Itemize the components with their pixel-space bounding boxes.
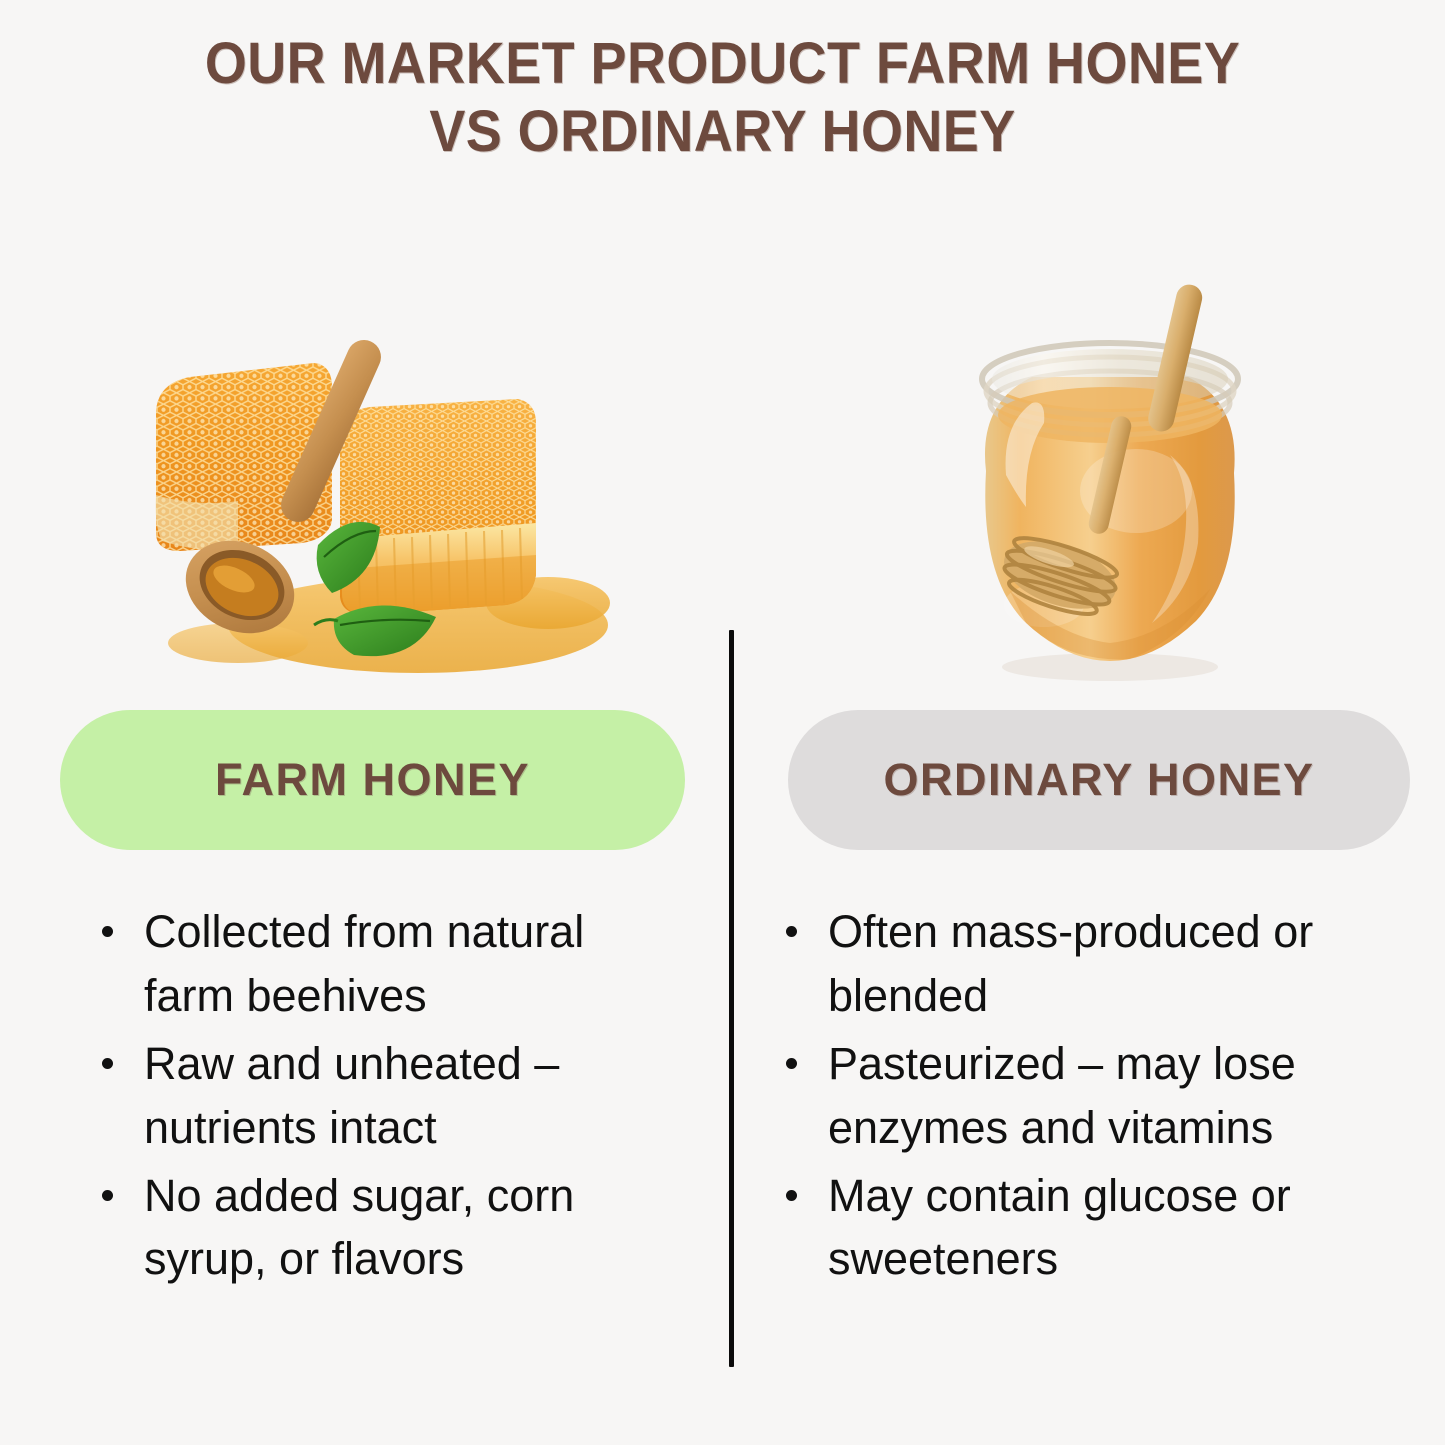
ordinary-honey-pill-label: ORDINARY HONEY bbox=[883, 754, 1314, 806]
page-title: OUR MARKET PRODUCT FARM HONEY VS ORDINAR… bbox=[181, 30, 1264, 166]
list-item-text: May contain glucose or sweeteners bbox=[828, 1170, 1291, 1285]
honeycomb-image bbox=[118, 325, 628, 695]
ordinary-honey-bullet-list: Often mass-produced or blended Pasteuriz… bbox=[776, 900, 1366, 1295]
list-item-text: No added sugar, corn syrup, or flavors bbox=[144, 1170, 574, 1285]
infographic-page: OUR MARKET PRODUCT FARM HONEY VS ORDINAR… bbox=[0, 0, 1445, 1445]
vertical-divider bbox=[729, 630, 734, 1367]
ordinary-honey-pill: ORDINARY HONEY bbox=[788, 710, 1410, 850]
bullet-dot-icon bbox=[786, 1058, 797, 1069]
list-item: Often mass-produced or blended bbox=[776, 900, 1366, 1028]
list-item-text: Pasteurized – may lose enzymes and vitam… bbox=[828, 1038, 1296, 1153]
farm-honey-bullet-list: Collected from natural farm beehives Raw… bbox=[92, 900, 667, 1295]
farm-honey-pill: FARM HONEY bbox=[60, 710, 685, 850]
list-item-text: Raw and unheated – nutrients intact bbox=[144, 1038, 559, 1153]
bullet-dot-icon bbox=[786, 926, 797, 937]
bullet-dot-icon bbox=[102, 1190, 113, 1201]
bullet-dot-icon bbox=[786, 1190, 797, 1201]
list-item-text: Collected from natural farm beehives bbox=[144, 906, 584, 1021]
farm-honey-pill-label: FARM HONEY bbox=[215, 754, 530, 806]
list-item: Pasteurized – may lose enzymes and vitam… bbox=[776, 1032, 1366, 1160]
list-item-text: Often mass-produced or blended bbox=[828, 906, 1313, 1021]
bullet-dot-icon bbox=[102, 926, 113, 937]
list-item: May contain glucose or sweeteners bbox=[776, 1164, 1366, 1292]
honey-jar-image bbox=[940, 275, 1280, 685]
list-item: Collected from natural farm beehives bbox=[92, 900, 667, 1028]
bullet-dot-icon bbox=[102, 1058, 113, 1069]
list-item: Raw and unheated – nutrients intact bbox=[92, 1032, 667, 1160]
list-item: No added sugar, corn syrup, or flavors bbox=[92, 1164, 667, 1292]
